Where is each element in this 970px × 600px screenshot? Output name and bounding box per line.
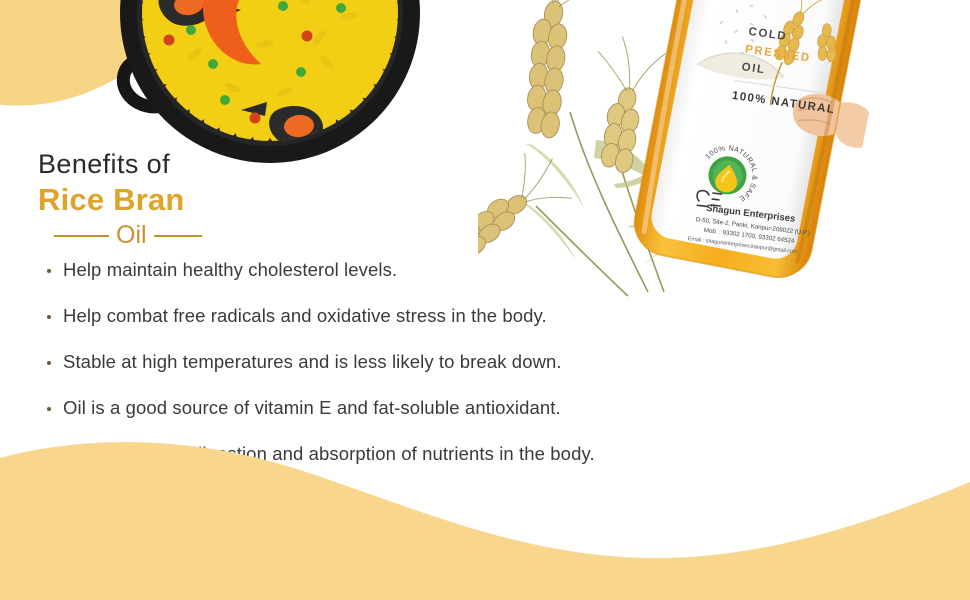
benefit-text: Help maintain healthy cholesterol levels…: [63, 258, 397, 283]
heading-line-rice-bran: Rice Bran: [38, 181, 368, 220]
heading-oil-row: Oil: [38, 222, 368, 250]
benefit-item: Stable at high temperatures and is less …: [44, 350, 744, 375]
poster-canvas: COLD PRESSED OIL 100% NATURAL 100% NATUR…: [0, 0, 970, 600]
benefit-item: Help maintain healthy cholesterol levels…: [44, 258, 744, 283]
heading-line-oil: Oil: [109, 222, 154, 250]
benefit-text: Stable at high temperatures and is less …: [63, 350, 562, 375]
benefit-item: Help combat free radicals and oxidative …: [44, 304, 744, 329]
benefit-item: Oil is a good source of vitamin E and fa…: [44, 396, 744, 421]
bottom-wave-shape: [0, 420, 970, 600]
heading-rule-left: [54, 235, 109, 237]
benefit-text: Oil is a good source of vitamin E and fa…: [63, 396, 561, 421]
bullet-dot-icon: [47, 407, 51, 411]
heading-block: Benefits of Rice Bran Oil: [38, 150, 368, 250]
bullet-dot-icon: [47, 315, 51, 319]
benefit-text: Help combat free radicals and oxidative …: [63, 304, 547, 329]
heading-rule-right: [154, 235, 202, 237]
bullet-dot-icon: [47, 361, 51, 365]
heading-line-benefits-of: Benefits of: [38, 150, 368, 178]
bullet-dot-icon: [47, 269, 51, 273]
